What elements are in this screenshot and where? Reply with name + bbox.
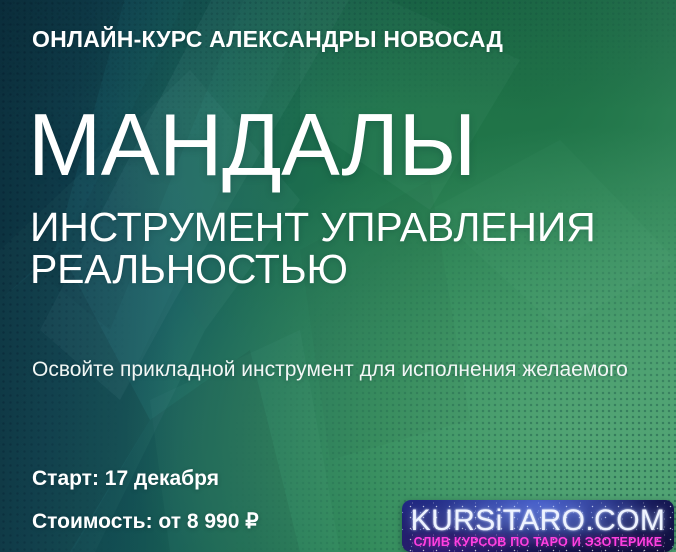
course-start-date: Старт: 17 декабря	[32, 467, 219, 491]
course-price: Стоимость: от 8 990 ₽	[32, 509, 259, 534]
page-subtitle-line-1: ИНСТРУМЕНТ УПРАВЛЕНИЯ	[30, 206, 596, 248]
course-description: Освойте прикладной инструмент для исполн…	[32, 352, 647, 387]
course-eyebrow: ОНЛАЙН-КУРС АЛЕКСАНДРЫ НОВОСАД	[32, 26, 503, 53]
banner-content: ОНЛАЙН-КУРС АЛЕКСАНДРЫ НОВОСАД МАНДАЛЫ И…	[0, 0, 676, 552]
page-title: МАНДАЛЫ	[28, 101, 476, 189]
page-subtitle: ИНСТРУМЕНТ УПРАВЛЕНИЯ РЕАЛЬНОСТЬЮ	[30, 206, 596, 290]
watermark-tagline: СЛИВ КУРСОВ ПО ТАРО И ЭЗОТЕРИКЕ	[402, 535, 674, 549]
page-subtitle-line-2: РЕАЛЬНОСТЬЮ	[30, 248, 596, 290]
watermark-domain: KURSiTARO.COM	[402, 504, 674, 538]
course-promo-banner: ОНЛАЙН-КУРС АЛЕКСАНДРЫ НОВОСАД МАНДАЛЫ И…	[0, 0, 676, 552]
watermark-badge: KURSiTARO.COM СЛИВ КУРСОВ ПО ТАРО И ЭЗОТ…	[402, 500, 674, 552]
